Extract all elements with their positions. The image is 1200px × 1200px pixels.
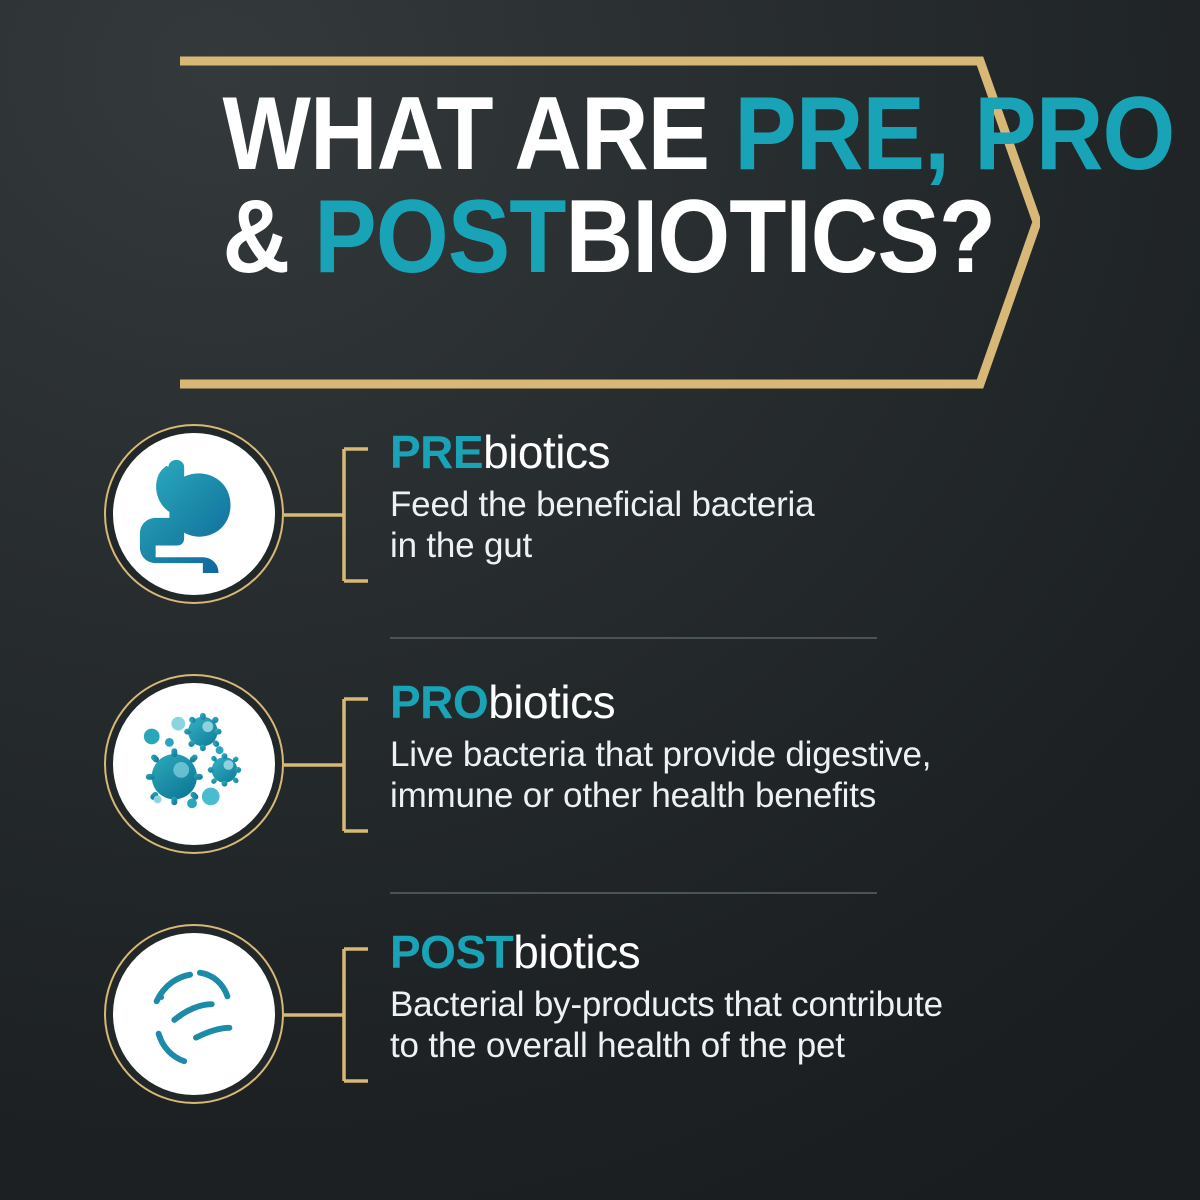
title-text-white-3: BIOTICS? — [566, 179, 996, 295]
biotics-list: PREbiotics Feed the beneficial bacteria … — [0, 400, 1200, 1150]
bracket-connector — [284, 696, 370, 834]
postbiotics-description: Bacterial by-products that contribute to… — [390, 985, 1150, 1067]
title-text-teal-1: PRE, PRO — [734, 76, 1174, 192]
bracket-connector — [284, 946, 370, 1084]
probiotics-heading: PRObiotics — [390, 678, 1150, 727]
prebiotics-description: Feed the beneficial bacteria in the gut — [390, 485, 1150, 567]
stomach-gut-icon — [135, 455, 253, 573]
title-block: WHAT ARE PRE, PRO & POSTBIOTICS? — [0, 55, 1200, 395]
postbiotics-suffix: biotics — [513, 926, 640, 978]
probiotics-text: PRObiotics Live bacteria that provide di… — [390, 678, 1150, 817]
probiotics-prefix: PRO — [390, 676, 488, 728]
medallion-inner-disc — [113, 433, 275, 595]
infographic-poster: WHAT ARE PRE, PRO & POSTBIOTICS? — [0, 0, 1200, 1200]
row-divider-1 — [390, 637, 877, 639]
row-divider-2 — [390, 892, 877, 894]
probiotics-description: Live bacteria that provide digestive, im… — [390, 735, 1150, 817]
prebiotics-suffix: biotics — [483, 426, 610, 478]
list-item-postbiotics: POSTbiotics Bacterial by-products that c… — [0, 900, 1200, 1150]
prebiotics-prefix: PRE — [390, 426, 483, 478]
prebiotics-heading: PREbiotics — [390, 428, 1150, 477]
title-line-1: WHAT ARE PRE, PRO — [223, 83, 988, 186]
postbiotics-heading: POSTbiotics — [390, 928, 1150, 977]
title-text-teal-2: POST — [314, 179, 565, 295]
title-text-white-1: WHAT ARE — [223, 76, 735, 192]
prebiotics-medallion — [104, 424, 284, 604]
bacilli-rods-icon — [135, 955, 253, 1073]
bracket-connector — [284, 446, 370, 584]
page-title: WHAT ARE PRE, PRO & POSTBIOTICS? — [223, 83, 988, 289]
microbe-cluster-icon — [135, 705, 253, 823]
probiotics-suffix: biotics — [488, 676, 615, 728]
title-line-2: & POSTBIOTICS? — [223, 186, 988, 289]
prebiotics-text: PREbiotics Feed the beneficial bacteria … — [390, 428, 1150, 567]
list-item-prebiotics: PREbiotics Feed the beneficial bacteria … — [0, 400, 1200, 650]
medallion-inner-disc — [113, 683, 275, 845]
probiotics-medallion — [104, 674, 284, 854]
list-item-probiotics: PRObiotics Live bacteria that provide di… — [0, 650, 1200, 900]
postbiotics-medallion — [104, 924, 284, 1104]
title-text-white-2: & — [223, 179, 315, 295]
postbiotics-text: POSTbiotics Bacterial by-products that c… — [390, 928, 1150, 1067]
medallion-inner-disc — [113, 933, 275, 1095]
postbiotics-prefix: POST — [390, 926, 513, 978]
